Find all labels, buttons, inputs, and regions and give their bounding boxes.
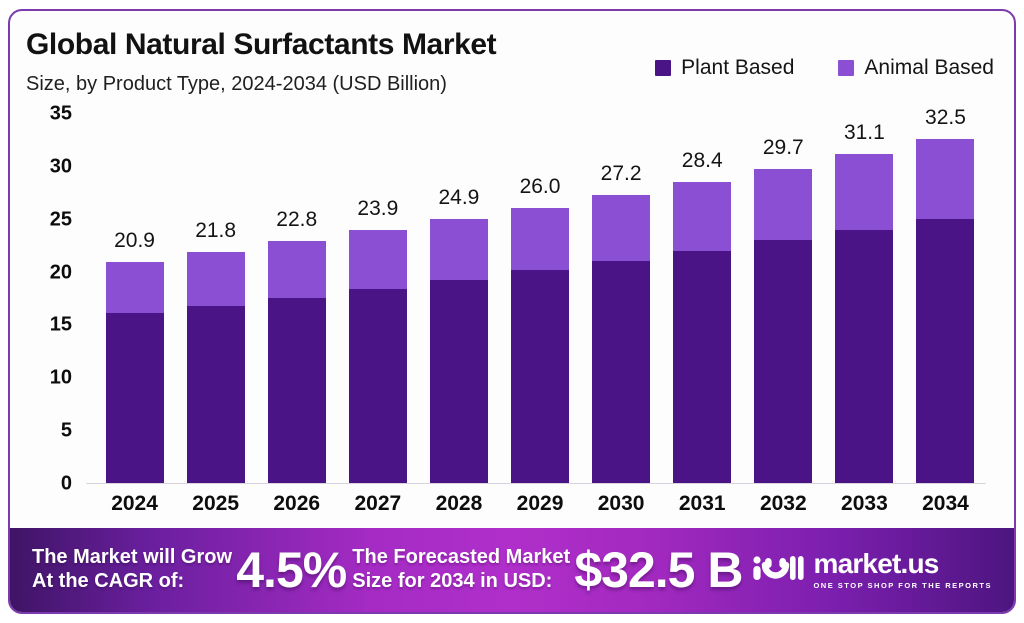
bar-segment-animal-based[interactable] <box>916 139 974 219</box>
bar-segment-animal-based[interactable] <box>268 241 326 297</box>
bar-stack[interactable]: 22.8 <box>268 241 326 482</box>
bar-segment-animal-based[interactable] <box>754 169 812 241</box>
bar-segment-plant-based[interactable] <box>835 230 893 483</box>
bar-group: 26.0 <box>499 114 580 483</box>
bar-segment-animal-based[interactable] <box>430 219 488 279</box>
x-axis-tick-2032: 2032 <box>743 492 824 516</box>
x-axis-baseline <box>86 483 986 485</box>
bar-segment-plant-based[interactable] <box>268 298 326 483</box>
bar-value-label: 29.7 <box>763 136 804 160</box>
page-subtitle: Size, by Product Type, 2024-2034 (USD Bi… <box>26 73 447 96</box>
bar-segment-plant-based[interactable] <box>916 219 974 482</box>
bar-segment-plant-based[interactable] <box>592 261 650 483</box>
x-axis-tick-2029: 2029 <box>499 492 580 516</box>
bar-segment-animal-based[interactable] <box>511 208 569 270</box>
x-axis-tick-2027: 2027 <box>337 492 418 516</box>
stacked-bar-chart: 05101520253035 20.921.822.823.924.926.02… <box>32 114 994 526</box>
chart-legend: Plant Based Animal Based <box>655 56 994 80</box>
bar-value-label: 26.0 <box>520 175 561 199</box>
x-axis-tick-2031: 2031 <box>662 492 743 516</box>
bar-segment-animal-based[interactable] <box>835 154 893 230</box>
x-axis-tick-2024: 2024 <box>94 492 175 516</box>
bar-stack[interactable]: 31.1 <box>835 154 893 483</box>
bar-stack[interactable]: 28.4 <box>673 182 731 482</box>
bar-value-label: 22.8 <box>276 208 317 232</box>
bar-stack[interactable]: 32.5 <box>916 139 974 483</box>
bar-group: 28.4 <box>662 114 743 483</box>
legend-swatch-plant-based <box>655 60 671 76</box>
summary-banner: The Market will Grow At the CAGR of: 4.5… <box>10 528 1014 612</box>
brand-wordmark: market.us ONE STOP SHOP FOR THE REPORTS <box>813 550 992 590</box>
bar-value-label: 32.5 <box>925 106 966 130</box>
forecast-caption: The Forecasted Market Size for 2034 in U… <box>352 546 570 593</box>
bar-segment-plant-based[interactable] <box>106 313 164 482</box>
bar-segment-plant-based[interactable] <box>754 240 812 482</box>
bar-segment-animal-based[interactable] <box>349 230 407 289</box>
y-axis-tick-25: 25 <box>50 208 72 231</box>
brand-tagline: ONE STOP SHOP FOR THE REPORTS <box>813 582 992 590</box>
x-axis-tick-2028: 2028 <box>418 492 499 516</box>
infographic-frame: Global Natural Surfactants Market Size, … <box>8 9 1016 614</box>
bar-segment-animal-based[interactable] <box>187 252 245 306</box>
bar-segment-plant-based[interactable] <box>430 280 488 483</box>
y-axis-tick-30: 30 <box>50 155 72 178</box>
forecast-value: $32.5 B <box>574 545 742 595</box>
legend-label-plant-based: Plant Based <box>681 56 794 80</box>
x-axis-tick-2034: 2034 <box>905 492 986 516</box>
cagr-caption-line1: The Market will Grow <box>32 546 232 570</box>
x-axis-tick-2033: 2033 <box>824 492 905 516</box>
bar-segment-animal-based[interactable] <box>673 182 731 251</box>
bar-group: 31.1 <box>824 114 905 483</box>
bar-group: 27.2 <box>581 114 662 483</box>
y-axis-tick-10: 10 <box>50 367 72 390</box>
bar-segment-animal-based[interactable] <box>106 262 164 314</box>
bar-value-label: 20.9 <box>114 229 155 253</box>
bar-segment-plant-based[interactable] <box>673 251 731 483</box>
bar-group: 32.5 <box>905 114 986 483</box>
cagr-caption-line2: At the CAGR of: <box>32 570 232 594</box>
y-axis: 05101520253035 <box>32 114 78 484</box>
forecast-caption-line1: The Forecasted Market <box>352 546 570 570</box>
market-us-logo-icon <box>752 553 804 588</box>
y-axis-tick-15: 15 <box>50 314 72 337</box>
bar-group: 20.9 <box>94 114 175 483</box>
bar-value-label: 28.4 <box>682 149 723 173</box>
bar-value-label: 27.2 <box>601 162 642 186</box>
infographic-root: Global Natural Surfactants Market Size, … <box>0 0 1024 623</box>
bar-segment-plant-based[interactable] <box>511 270 569 482</box>
bar-segment-plant-based[interactable] <box>187 306 245 483</box>
cagr-value: 4.5% <box>236 545 346 595</box>
y-axis-tick-20: 20 <box>50 261 72 284</box>
cagr-caption: The Market will Grow At the CAGR of: <box>32 546 232 593</box>
bar-group: 23.9 <box>337 114 418 483</box>
bar-segment-animal-based[interactable] <box>592 195 650 261</box>
brand-logo[interactable]: market.us ONE STOP SHOP FOR THE REPORTS <box>752 550 992 590</box>
bar-stack[interactable]: 21.8 <box>187 252 245 482</box>
bar-value-label: 24.9 <box>438 186 479 210</box>
bar-stack[interactable]: 24.9 <box>430 219 488 482</box>
bar-value-label: 31.1 <box>844 121 885 145</box>
bar-stack[interactable]: 20.9 <box>106 262 164 483</box>
legend-swatch-animal-based <box>838 60 854 76</box>
forecast-caption-line2: Size for 2034 in USD: <box>352 570 570 594</box>
x-axis: 2024202520262027202820292030203120322033… <box>94 492 986 516</box>
legend-item-animal-based[interactable]: Animal Based <box>838 56 994 80</box>
bar-group: 29.7 <box>743 114 824 483</box>
bar-group: 24.9 <box>418 114 499 483</box>
bar-segment-plant-based[interactable] <box>349 289 407 482</box>
page-title: Global Natural Surfactants Market <box>26 28 496 62</box>
bar-series-container: 20.921.822.823.924.926.027.228.429.731.1… <box>94 114 986 483</box>
x-axis-tick-2025: 2025 <box>175 492 256 516</box>
bar-group: 21.8 <box>175 114 256 483</box>
y-axis-tick-0: 0 <box>61 473 72 496</box>
x-axis-tick-2026: 2026 <box>256 492 337 516</box>
bar-stack[interactable]: 23.9 <box>349 230 407 483</box>
bar-stack[interactable]: 27.2 <box>592 195 650 483</box>
bar-stack[interactable]: 29.7 <box>754 169 812 483</box>
legend-label-animal-based: Animal Based <box>864 56 994 80</box>
bar-value-label: 21.8 <box>195 219 236 243</box>
bar-group: 22.8 <box>256 114 337 483</box>
x-axis-tick-2030: 2030 <box>581 492 662 516</box>
plot-area: 20.921.822.823.924.926.027.228.429.731.1… <box>94 114 986 484</box>
bar-stack[interactable]: 26.0 <box>511 208 569 483</box>
y-axis-tick-5: 5 <box>61 420 72 443</box>
bar-value-label: 23.9 <box>357 197 398 221</box>
legend-item-plant-based[interactable]: Plant Based <box>655 56 794 80</box>
y-axis-tick-35: 35 <box>50 103 72 126</box>
brand-name: market.us <box>813 550 992 578</box>
